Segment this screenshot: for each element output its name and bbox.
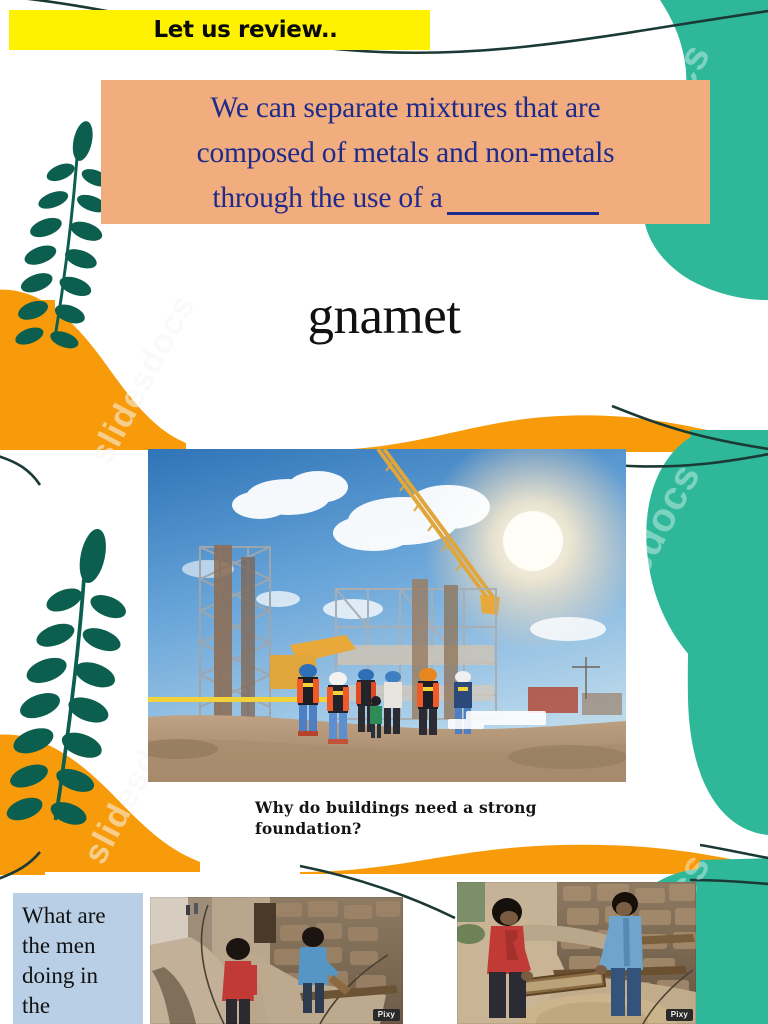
teal-blob-right-mid-2 — [688, 430, 768, 835]
alley-photo-art — [150, 897, 403, 1024]
pixy-watermark: Pixy — [373, 1009, 400, 1021]
bottom-question-line-4: the — [22, 991, 135, 1021]
question-line-3: through the use of a — [115, 176, 696, 221]
bottom-question-line-1: What are — [22, 901, 135, 931]
bottom-question-line-2: the men — [22, 931, 135, 961]
construction-caption: Why do buildings need a strong foundatio… — [255, 797, 655, 839]
sifting-photo-art — [457, 882, 696, 1024]
leaf-sprig-lower — [4, 527, 130, 830]
review-banner: Let us review.. — [9, 10, 430, 50]
caption-line-1: Why do buildings need a strong — [255, 797, 655, 818]
curve-corner-bottom-left — [0, 455, 40, 485]
bottom-question-box: What are the men doing in the — [13, 893, 143, 1024]
construction-photo-art — [148, 449, 626, 782]
scrambled-word: gnamet — [0, 286, 768, 346]
caption-line-2: foundation? — [255, 818, 655, 839]
pixy-watermark: Pixy — [666, 1009, 693, 1021]
men-sifting-sand-photo: Pixy — [457, 882, 696, 1024]
answer-blank-line — [447, 212, 599, 215]
slide-canvas: slidesdocs slidesdocs slidesdocs slidesd… — [0, 0, 768, 1024]
bottom-question-line-3: doing in — [22, 961, 135, 991]
question-line-1: We can separate mixtures that are — [115, 86, 696, 131]
review-banner-label: Let us review.. — [154, 19, 338, 42]
question-box: We can separate mixtures that are compos… — [101, 80, 710, 224]
question-line-2: composed of metals and non-metals — [115, 131, 696, 176]
question-line-3-text: through the use of a — [212, 182, 442, 214]
men-working-in-alley-photo: Pixy — [150, 897, 403, 1024]
construction-site-photo — [148, 449, 626, 782]
